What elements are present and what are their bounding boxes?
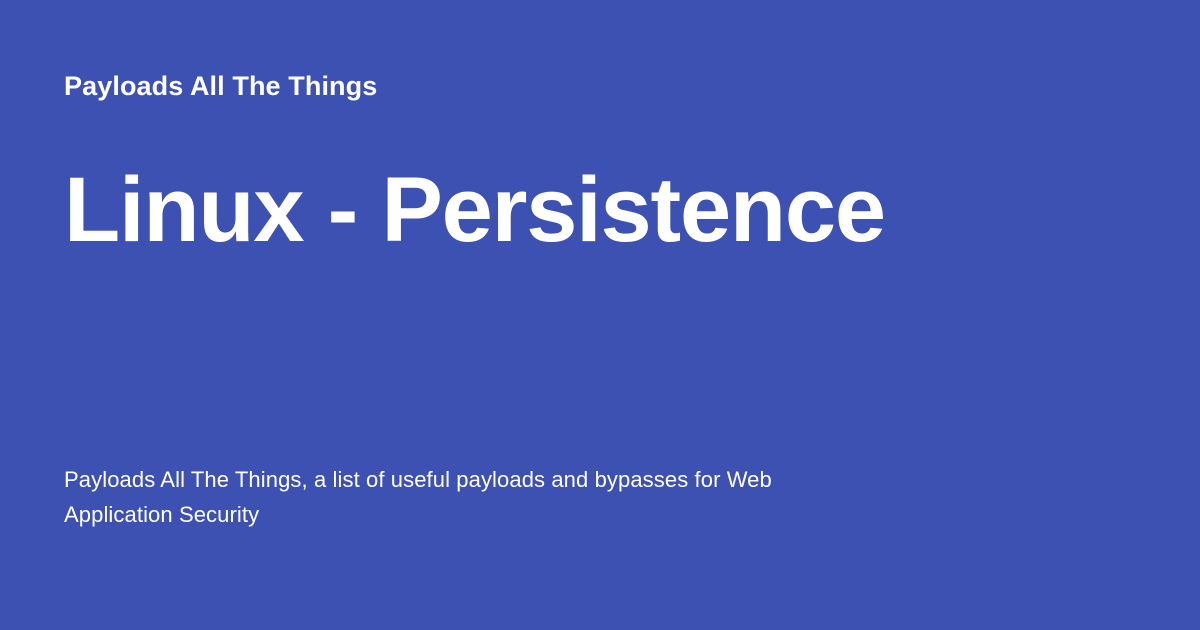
- site-name: Payloads All The Things: [64, 70, 1136, 104]
- page-title: Linux - Persistence: [64, 162, 1136, 259]
- site-name-row: Payloads All The Things: [64, 70, 1136, 104]
- page-title-row: Linux - Persistence: [64, 162, 1136, 259]
- layout-spacer: [64, 258, 1136, 462]
- description-row: Payloads All The Things, a list of usefu…: [64, 462, 1136, 532]
- page-description: Payloads All The Things, a list of usefu…: [64, 462, 784, 532]
- og-preview-card: Payloads All The Things Linux - Persiste…: [0, 0, 1200, 630]
